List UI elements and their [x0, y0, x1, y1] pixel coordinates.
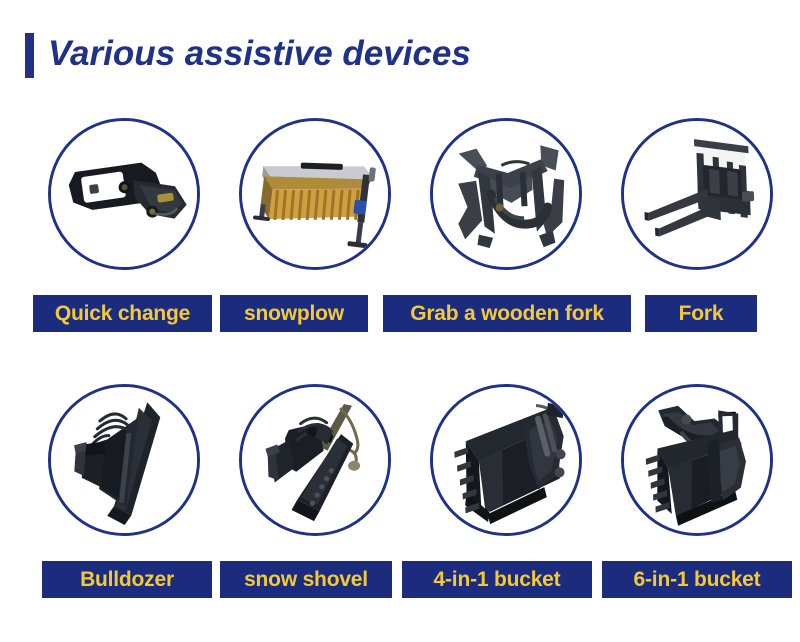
product-label-fork[interactable]: Fork: [645, 295, 757, 332]
product-image-circle: [239, 384, 391, 536]
product-image-circle: [621, 118, 773, 270]
product-image-circle: [239, 118, 391, 270]
product-card-bulldozer[interactable]: [48, 384, 206, 542]
product-image-circle: [48, 384, 200, 536]
page-header: Various assistive devices: [0, 0, 800, 105]
product-label-6-in-1-bucket[interactable]: 6-in-1 bucket: [602, 561, 792, 598]
product-label-bulldozer[interactable]: Bulldozer: [42, 561, 212, 598]
product-card-grab-a-wooden-fork[interactable]: [430, 118, 588, 276]
bulldozer-blade-icon: [51, 387, 200, 536]
product-label-snowplow[interactable]: snowplow: [220, 295, 368, 332]
product-label-grab-a-wooden-fork[interactable]: Grab a wooden fork: [383, 295, 631, 332]
four-in-one-bucket-icon: [433, 387, 582, 536]
product-card-6-in-1-bucket[interactable]: [621, 384, 779, 542]
product-image-group-1: [0, 110, 800, 280]
quick-change-coupler-icon: [51, 121, 200, 270]
title-accent-bar: [25, 33, 34, 78]
product-card-fork[interactable]: [621, 118, 779, 276]
product-card-snowplow[interactable]: [239, 118, 397, 276]
product-label-quick-change[interactable]: Quick change: [33, 295, 212, 332]
product-label-group-2: Bulldozer snow shovel 4-in-1 bucket 6-in…: [0, 561, 800, 601]
product-image-circle: [430, 118, 582, 270]
page-title: Various assistive devices: [48, 28, 471, 80]
product-image-circle: [48, 118, 200, 270]
snowplow-sweeper-brush-icon: [242, 121, 391, 270]
product-label-4-in-1-bucket[interactable]: 4-in-1 bucket: [402, 561, 592, 598]
product-image-circle: [621, 384, 773, 536]
pallet-fork-icon: [624, 121, 773, 270]
product-image-group-2: [0, 376, 800, 546]
product-label-group-1: Quick change snowplow Grab a wooden fork…: [0, 295, 800, 335]
six-in-one-bucket-icon: [624, 387, 773, 536]
snow-shovel-blade-icon: [242, 387, 391, 536]
product-card-4-in-1-bucket[interactable]: [430, 384, 588, 542]
product-label-snow-shovel[interactable]: snow shovel: [220, 561, 392, 598]
product-image-circle: [430, 384, 582, 536]
log-grapple-fork-icon: [433, 121, 582, 270]
product-card-snow-shovel[interactable]: [239, 384, 397, 542]
product-card-quick-change[interactable]: [48, 118, 206, 276]
